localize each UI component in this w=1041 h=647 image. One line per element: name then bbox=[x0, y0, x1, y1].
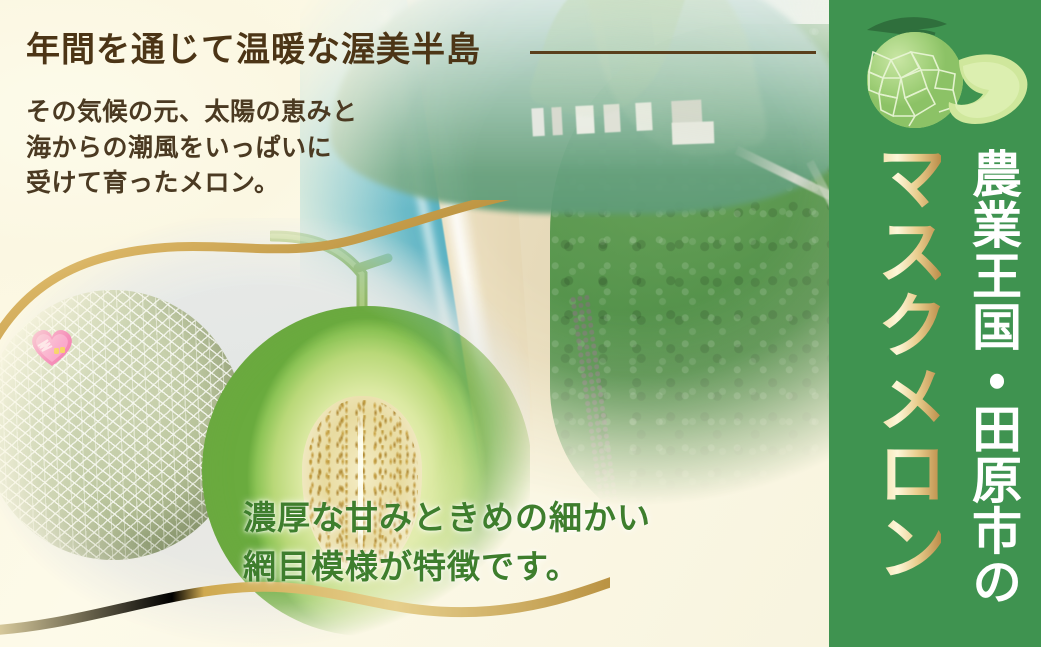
catch-copy: 濃厚な甘みときめの細かい 網目模様が特徴です。 bbox=[243, 494, 651, 592]
product-name-vertical: マスクメロン bbox=[857, 140, 941, 640]
catch-line-1: 濃厚な甘みときめの細かい bbox=[243, 494, 651, 543]
melon-promo-banner: 年間を通じて温暖な渥美半島 その気候の元、太陽の恵みと 海からの潮風をいっぱいに… bbox=[0, 0, 1041, 647]
lead-paragraph: その気候の元、太陽の恵みと 海からの潮風をいっぱいに 受けて育ったメロン。 bbox=[26, 95, 358, 202]
melon-stem-icon bbox=[270, 228, 420, 308]
lead-line-1: その気候の元、太陽の恵みと bbox=[26, 95, 358, 131]
lead-line-2: 海からの潮風をいっぱいに bbox=[26, 131, 358, 167]
left-content-area: 年間を通じて温暖な渥美半島 その気候の元、太陽の恵みと 海からの潮風をいっぱいに… bbox=[0, 0, 830, 647]
headline-rule bbox=[530, 51, 816, 54]
melon-icon bbox=[843, 8, 1033, 136]
page-title: 年間を通じて温暖な渥美半島 bbox=[26, 22, 481, 71]
catch-line-2: 網目模様が特徴です。 bbox=[243, 543, 651, 592]
heart-sticker-icon bbox=[28, 326, 76, 368]
lead-line-3: 受けて育ったメロン。 bbox=[26, 166, 358, 202]
green-side-panel: マスクメロン 農業王国・田原市の bbox=[829, 0, 1041, 647]
tagline-vertical: 農業王国・田原市の bbox=[957, 148, 1019, 628]
